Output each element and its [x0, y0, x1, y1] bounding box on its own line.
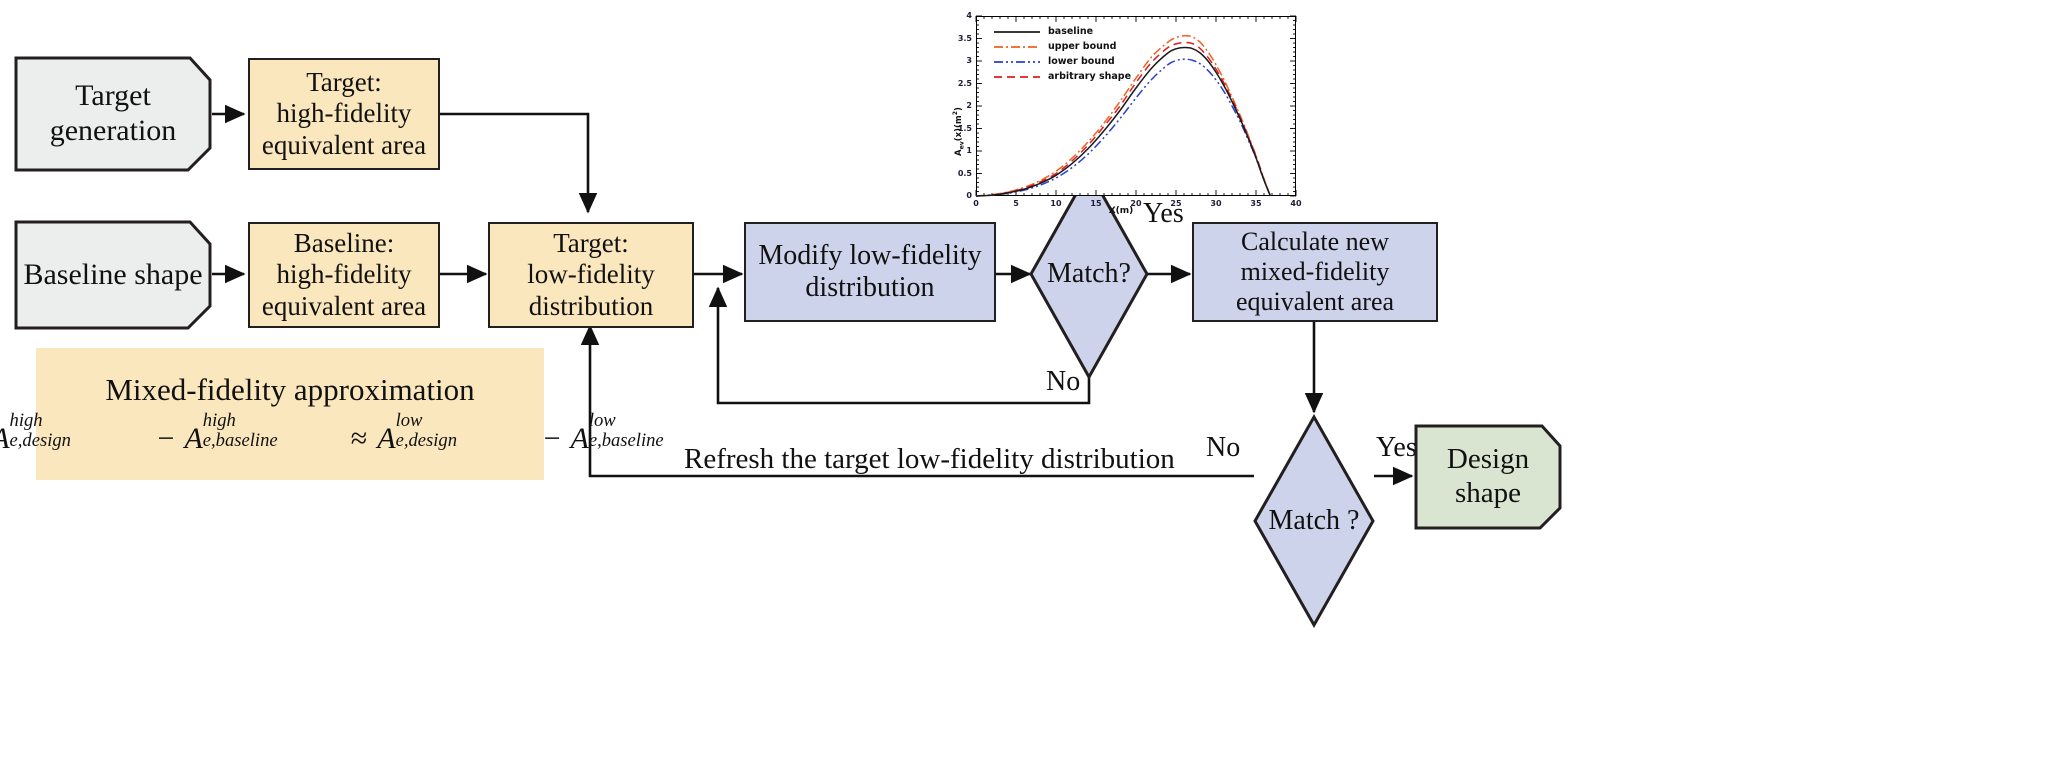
- node-calculate-new-area[interactable]: Calculate new mixed-fidelity equivalent …: [1192, 222, 1438, 322]
- chart-legend-label: upper bound: [1048, 41, 1116, 52]
- label-line-1: Baseline:: [262, 228, 426, 259]
- label-line-2: low-fidelity: [527, 259, 654, 290]
- chart-series-upper-bound: [976, 36, 1270, 196]
- formula-term-2-sub: e,baseline: [203, 430, 278, 452]
- label-line-3: equivalent area: [262, 130, 426, 161]
- edge-label-match2-yes: Yes: [1376, 432, 1417, 464]
- chart-series-baseline: [976, 47, 1270, 196]
- node-target-generation[interactable]: Target generation: [14, 56, 212, 172]
- match-1-text: Match?: [1047, 258, 1131, 290]
- chart-x-tick-label: 35: [1245, 199, 1267, 208]
- chart-x-tick-label: 25: [1165, 199, 1187, 208]
- label-line-2: high-fidelity: [262, 98, 426, 129]
- chart-legend-label: lower bound: [1048, 56, 1115, 67]
- label-line-3: equivalent area: [1236, 287, 1394, 317]
- inset-equivalent-area-chart: Aev(x)(m2) X(m) 00.511.522.533.540510152…: [938, 6, 1304, 218]
- node-target-low-fidelity[interactable]: Target: low-fidelity distribution: [488, 222, 694, 328]
- node-target-generation-label: Target generation: [14, 56, 212, 172]
- formula-approx: ≈: [341, 422, 377, 455]
- formula-minus-1: −: [148, 422, 185, 455]
- formula-term-4-sub: e,baseline: [589, 430, 664, 452]
- label-line-1: Target:: [262, 67, 426, 98]
- label-line-1: Calculate new: [1236, 227, 1394, 257]
- edge-targethf-to-targetlf: [440, 114, 588, 212]
- chart-x-tick-label: 40: [1285, 199, 1307, 208]
- match-2-text: Match ?: [1269, 505, 1360, 537]
- banner-formula: Ahighe,design−Ahighe,baseline≈Alowe,desi…: [0, 422, 589, 456]
- label-line-1: Modify low-fidelity: [758, 240, 981, 272]
- flowchart-canvas: Target generation Target: high-fidelity …: [0, 0, 2048, 768]
- node-design-shape[interactable]: Design shape: [1414, 424, 1562, 530]
- chart-y-tick-label: 1.5: [946, 124, 972, 133]
- chart-series-arbitrary-shape: [976, 43, 1270, 196]
- label-line-1: Baseline: [23, 258, 126, 291]
- chart-x-tick-label: 15: [1085, 199, 1107, 208]
- chart-y-tick-label: 2.5: [946, 79, 972, 88]
- chart-svg: [938, 6, 1304, 218]
- chart-x-tick-label: 10: [1045, 199, 1067, 208]
- node-modify-low-fidelity[interactable]: Modify low-fidelity distribution: [744, 222, 996, 322]
- chart-y-tick-label: 3.5: [946, 34, 972, 43]
- formula-term-1: Ahighe,design: [0, 422, 10, 456]
- node-match-decision-2-label: Match ?: [1252, 414, 1376, 628]
- banner-title: Mixed-fidelity approximation: [105, 372, 474, 408]
- label-line-1: Target:: [527, 228, 654, 259]
- edge-label-match2-no: No: [1206, 432, 1240, 464]
- node-target-high-fidelity[interactable]: Target: high-fidelity equivalent area: [248, 58, 440, 170]
- chart-y-tick-label: 4: [946, 11, 972, 20]
- label-line-3: equivalent area: [262, 291, 426, 322]
- label-line-2: high-fidelity: [262, 259, 426, 290]
- formula-term-3: Alowe,design: [377, 422, 395, 456]
- formula-minus-2: −: [534, 422, 571, 455]
- node-baseline-shape-label: Baseline shape: [14, 220, 212, 330]
- chart-x-tick-label: 20: [1125, 199, 1147, 208]
- formula-term-1-sub: e,design: [10, 430, 71, 452]
- node-baseline-high-fidelity[interactable]: Baseline: high-fidelity equivalent area: [248, 222, 440, 328]
- formula-term-3-sub: e,design: [396, 430, 457, 452]
- label-line-2: mixed-fidelity: [1236, 257, 1394, 287]
- label-line-2: shape: [1455, 477, 1521, 509]
- label-line-2: distribution: [758, 272, 981, 304]
- label-line-1: Target: [75, 79, 151, 112]
- node-match-decision-2[interactable]: Match ?: [1252, 414, 1376, 628]
- label-line-2: generation: [50, 114, 177, 147]
- node-baseline-shape[interactable]: Baseline shape: [14, 220, 212, 330]
- chart-y-tick-label: 3: [946, 56, 972, 65]
- mixed-fidelity-approximation-banner: Mixed-fidelity approximation Ahighe,desi…: [36, 348, 544, 480]
- chart-x-tick-label: 30: [1205, 199, 1227, 208]
- formula-term-4: Alowe,baseline: [570, 422, 588, 456]
- chart-y-tick-label: 1: [946, 146, 972, 155]
- chart-x-tick-label: 0: [965, 199, 987, 208]
- node-design-shape-label: Design shape: [1414, 424, 1562, 530]
- label-line-3: distribution: [527, 291, 654, 322]
- edge-label-refresh: Refresh the target low-fidelity distribu…: [684, 443, 1175, 476]
- chart-x-tick-label: 5: [1005, 199, 1027, 208]
- formula-term-2: Ahighe,baseline: [184, 422, 202, 456]
- label-line-1: Design: [1447, 443, 1529, 475]
- chart-y-tick-label: 2: [946, 101, 972, 110]
- chart-y-tick-label: 0.5: [946, 169, 972, 178]
- label-line-2: shape: [134, 258, 202, 291]
- edge-label-match1-no: No: [1046, 366, 1080, 398]
- chart-legend-label: arbitrary shape: [1048, 71, 1131, 82]
- chart-legend-label: baseline: [1048, 26, 1093, 37]
